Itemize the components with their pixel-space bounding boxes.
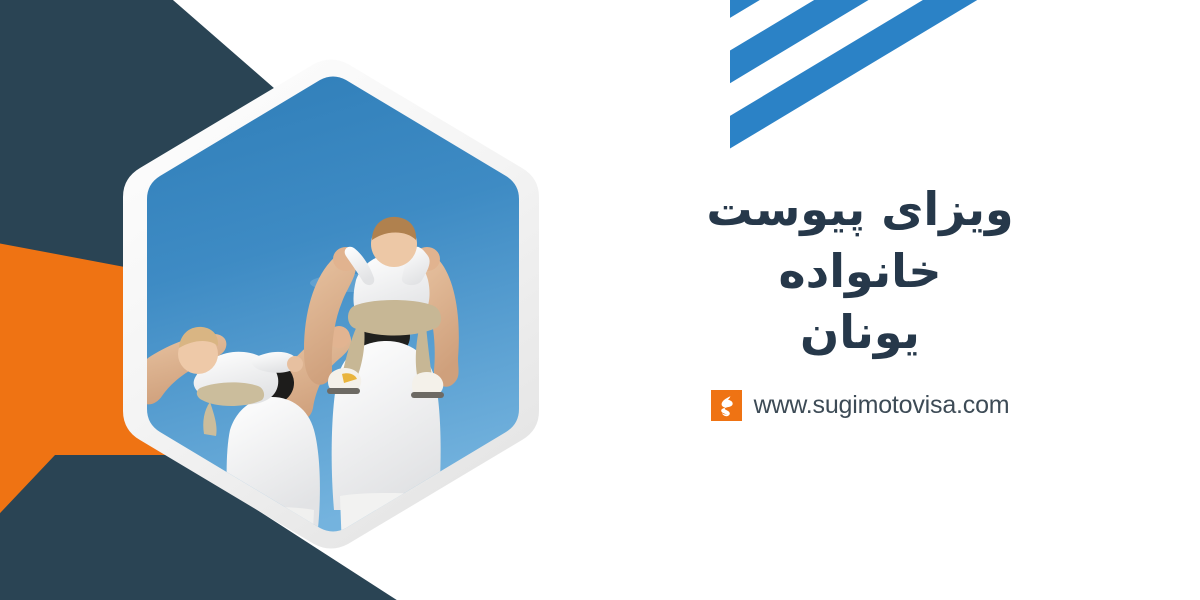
- right-child-shoe-right-sole: [411, 392, 444, 398]
- left-child-hand: [287, 356, 303, 372]
- right-adult-shorts: [340, 493, 436, 550]
- family-photo-svg: [118, 58, 548, 550]
- right-child-shoe-left-sole: [327, 388, 360, 394]
- website-url[interactable]: www.sugimotovisa.com: [754, 391, 1010, 420]
- visa-promo-banner: ویزای پیوست خانواده یونان www.sugimotovi…: [0, 0, 1200, 600]
- banner-content: ویزای پیوست خانواده یونان www.sugimotovi…: [560, 0, 1160, 600]
- photo-content: [118, 58, 548, 550]
- sugimoto-s-flame-icon: [711, 390, 742, 421]
- headline-line-2: یونان: [800, 305, 920, 359]
- family-photo-frame: [118, 58, 548, 550]
- brand-url-row[interactable]: www.sugimotovisa.com: [711, 390, 1010, 421]
- headline-line-1: ویزای پیوست خانواده: [706, 182, 1013, 298]
- page-title: ویزای پیوست خانواده یونان: [625, 179, 1095, 364]
